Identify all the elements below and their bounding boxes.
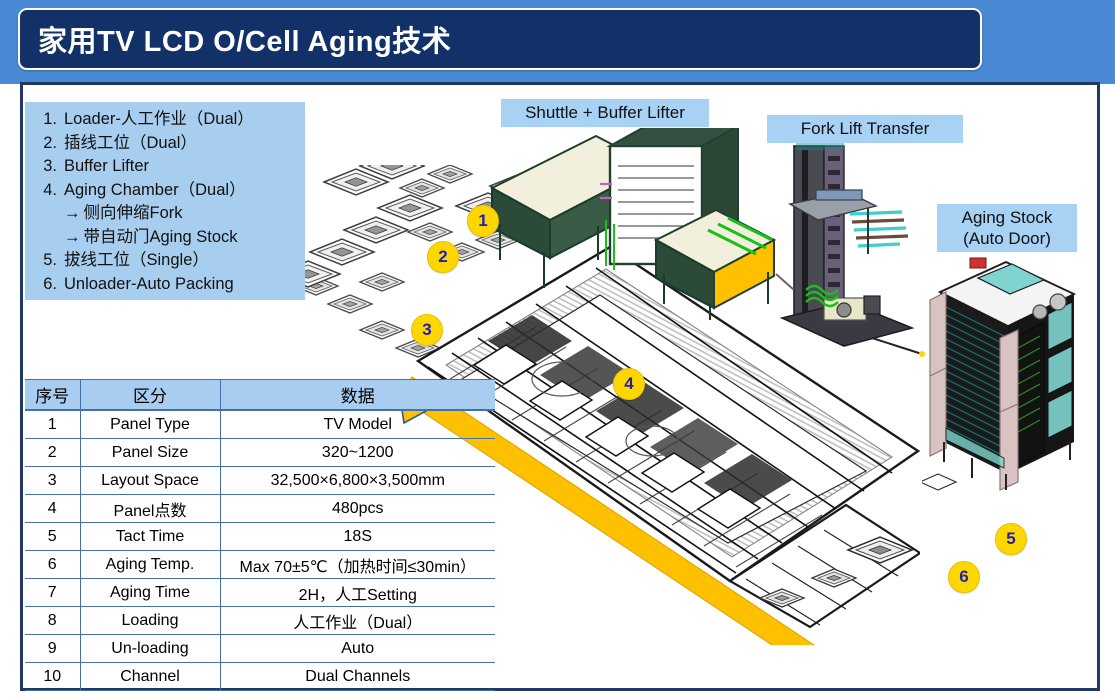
callout-aging-stock-line1: Aging Stock [946,207,1068,228]
spec-row-2-category: Panel Size [80,439,220,467]
spec-row-6-category: Aging Temp. [80,551,220,579]
step-badge-1[interactable]: 1 [467,205,499,237]
callout-aging-stock: Aging Stock (Auto Door) [937,204,1077,252]
slide-title: 家用TV LCD O/Cell Aging技术 [38,18,451,60]
table-row: 4 Panel点数 480pcs [25,495,495,523]
spec-row-1-no: 1 [25,410,80,439]
table-row: 9 Un-loading Auto [25,635,495,663]
table-row: 8 Loading 人工作业（Dual） [25,607,495,635]
step-badge-2[interactable]: 2 [427,241,459,273]
process-list-item-4-number: 4. [33,179,64,203]
spec-table-header-category: 区分 [80,380,220,411]
table-row: 5 Tact Time 18S [25,523,495,551]
spec-row-3-value: 32,500×6,800×3,500mm [220,467,495,495]
spec-row-4-category: Panel点数 [80,495,220,523]
table-row: 6 Aging Temp. Max 70±5℃（加热时间≤30min） [25,551,495,579]
process-list-subitem-1: →侧向伸缩Fork [33,202,301,226]
arrow-right-icon: → [64,204,84,222]
spec-row-3-no: 3 [25,467,80,495]
spec-table-header-row: 序号 区分 数据 [25,380,495,411]
spec-row-10-value: Dual Channels [220,663,495,691]
process-list-item-6-label: Unloader-Auto Packing [64,273,234,297]
spec-row-1-category: Panel Type [80,410,220,439]
spec-row-10-no: 10 [25,663,80,691]
callout-aging-stock-line2: (Auto Door) [946,228,1068,249]
table-row: 10 Channel Dual Channels [25,663,495,691]
process-list-item-3-number: 3. [33,155,64,179]
table-row: 7 Aging Time 2H，人工Setting [25,579,495,607]
process-list-item-6: 6. Unloader-Auto Packing [33,273,301,297]
process-list-item-1-number: 1. [33,108,64,132]
spec-table-header-data: 数据 [220,380,495,411]
process-list-item-2-label: 插线工位（Dual） [64,132,197,156]
spec-row-9-no: 9 [25,635,80,663]
process-list-item-4: 4. Aging Chamber（Dual） [33,179,301,203]
process-list-item-3: 3. Buffer Lifter [33,155,301,179]
process-list-item-2-number: 2. [33,132,64,156]
process-list-subitem-2-label: 带自动门Aging Stock [84,228,238,246]
process-list-panel: 1. Loader-人工作业（Dual） 2. 插线工位（Dual） 3. Bu… [25,102,305,300]
spec-row-4-no: 4 [25,495,80,523]
process-list-item-5-label: 拔线工位（Single） [64,249,209,273]
table-row: 1 Panel Type TV Model [25,410,495,439]
process-list-item-5-number: 5. [33,249,64,273]
spec-row-5-category: Tact Time [80,523,220,551]
process-list-item-4-label: Aging Chamber（Dual） [64,179,246,203]
process-list-subitem-2: →带自动门Aging Stock [33,226,301,250]
process-list-item-2: 2. 插线工位（Dual） [33,132,301,156]
slide-root: 家用TV LCD O/Cell Aging技术 [0,0,1115,698]
spec-row-5-no: 5 [25,523,80,551]
spec-row-7-value: 2H，人工Setting [220,579,495,607]
spec-row-6-value: Max 70±5℃（加热时间≤30min） [220,551,495,579]
spec-row-5-value: 18S [220,523,495,551]
slide-title-bar: 家用TV LCD O/Cell Aging技术 [18,8,982,70]
process-list-item-3-label: Buffer Lifter [64,155,149,179]
spec-row-1-value: TV Model [220,410,495,439]
spec-row-8-value: 人工作业（Dual） [220,607,495,635]
spec-table-header-no: 序号 [25,380,80,411]
step-badge-6[interactable]: 6 [948,561,980,593]
step-badge-5[interactable]: 5 [995,523,1027,555]
step-badge-4[interactable]: 4 [613,368,645,400]
callout-shuttle-buffer-lifter: Shuttle + Buffer Lifter [501,99,709,127]
callout-fork-lift-transfer: Fork Lift Transfer [767,115,963,143]
spec-row-6-no: 6 [25,551,80,579]
spec-row-4-value: 480pcs [220,495,495,523]
spec-row-8-no: 8 [25,607,80,635]
spec-row-9-value: Auto [220,635,495,663]
spec-row-7-no: 7 [25,579,80,607]
spec-row-10-category: Channel [80,663,220,691]
table-row: 3 Layout Space 32,500×6,800×3,500mm [25,467,495,495]
process-list-item-6-number: 6. [33,273,64,297]
table-row: 2 Panel Size 320~1200 [25,439,495,467]
spec-row-7-category: Aging Time [80,579,220,607]
spec-table: 序号 区分 数据 1 Panel Type TV Model 2 Panel S… [25,379,495,691]
process-list-item-1-label: Loader-人工作业（Dual） [64,108,254,132]
spec-row-3-category: Layout Space [80,467,220,495]
process-list-item-5: 5. 拔线工位（Single） [33,249,301,273]
spec-row-2-value: 320~1200 [220,439,495,467]
spec-row-9-category: Un-loading [80,635,220,663]
spec-row-8-category: Loading [80,607,220,635]
process-list-item-1: 1. Loader-人工作业（Dual） [33,108,301,132]
process-list-subitem-1-label: 侧向伸缩Fork [84,204,183,222]
spec-row-2-no: 2 [25,439,80,467]
step-badge-3[interactable]: 3 [411,314,443,346]
arrow-right-icon: → [64,228,84,246]
